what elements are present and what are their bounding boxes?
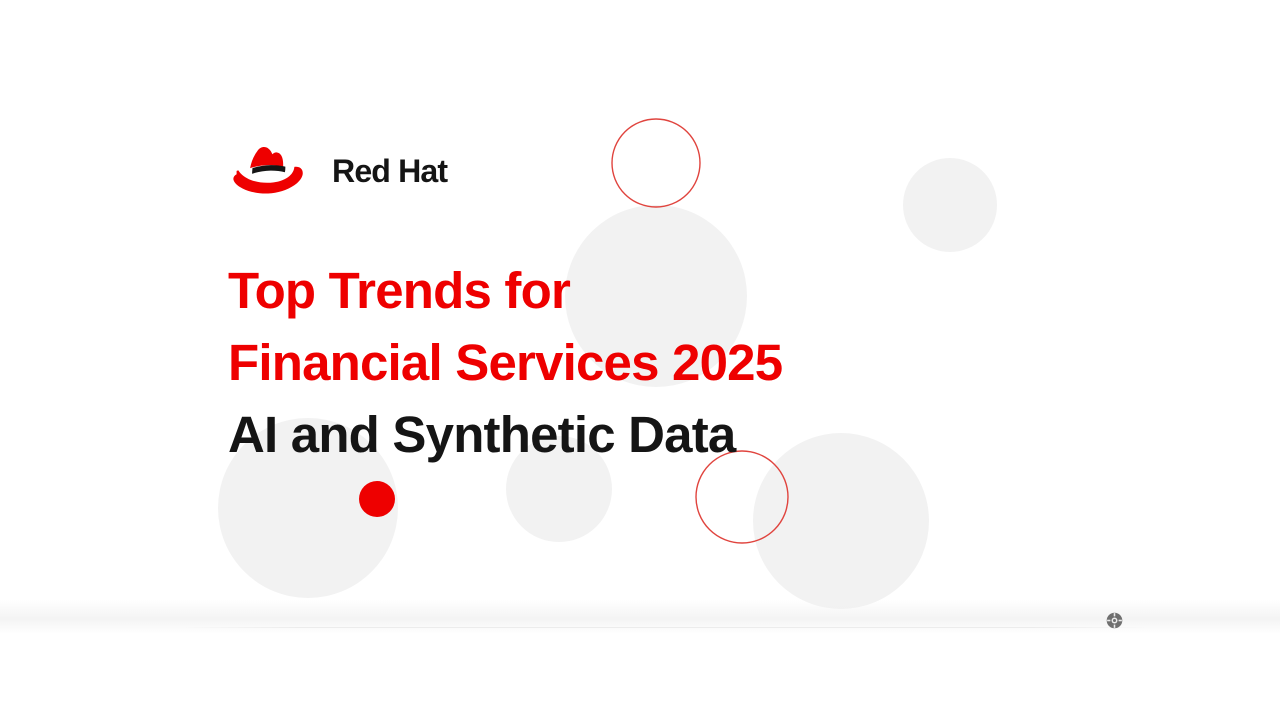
gray-circle-upper-right xyxy=(903,158,997,252)
red-hat-fedora-icon xyxy=(232,145,314,201)
presentation-slide: Red Hat Top Trends for Financial Service… xyxy=(0,0,1280,720)
video-player-control-bar[interactable] xyxy=(0,600,1280,634)
slide-headline: Top Trends for Financial Services 2025 A… xyxy=(228,255,988,471)
red-ring-upper-center xyxy=(612,119,700,207)
headline-line-1: Top Trends for xyxy=(228,255,988,327)
red-hat-wordmark: Red Hat xyxy=(332,151,504,195)
headline-line-2: Financial Services 2025 xyxy=(228,327,988,399)
player-settings-icon[interactable] xyxy=(1106,612,1123,629)
headline-line-3: AI and Synthetic Data xyxy=(228,399,988,471)
svg-text:Red Hat: Red Hat xyxy=(332,153,448,189)
red-dot-accent xyxy=(359,481,395,517)
red-hat-logo: Red Hat xyxy=(232,142,504,204)
